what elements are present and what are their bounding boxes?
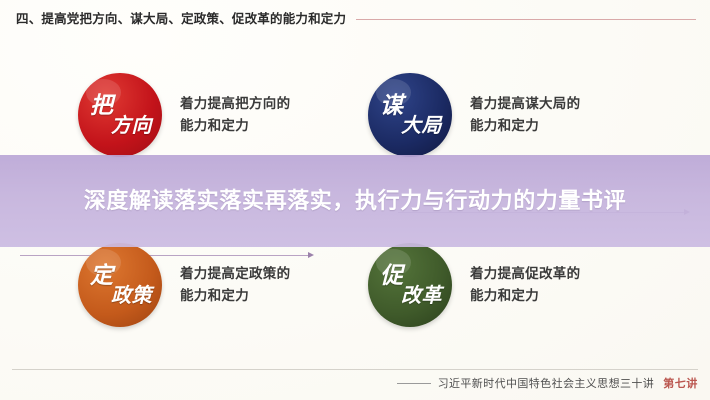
footer-separator-line xyxy=(12,369,698,370)
badge-char-secondary: 大局 xyxy=(377,116,443,136)
desc-line-2: 能力和定力 xyxy=(470,115,580,137)
badge-char-secondary: 政策 xyxy=(87,286,153,306)
desc-line-1: 着力提高谋大局的 xyxy=(470,93,580,115)
header-rule-divider xyxy=(356,19,696,20)
desc-line-2: 能力和定力 xyxy=(180,285,290,307)
badge-char-secondary: 改革 xyxy=(377,286,443,306)
diagram-item-description: 着力提高定政策的 能力和定力 xyxy=(180,263,290,308)
overlay-title-band: 深度解读落实落实再落实，执行力与行动力的力量书评 xyxy=(0,155,710,247)
diagram-item-description: 着力提高谋大局的 能力和定力 xyxy=(470,93,580,138)
badge-circle-ding-zhengce: 定 政策 xyxy=(78,243,162,327)
diagram-item-description: 着力提高促改革的 能力和定力 xyxy=(470,263,580,308)
slide-canvas: 四、提高党把方向、谋大局、定政策、促改革的能力和定力 把 方向 着力提高把方向的… xyxy=(0,0,710,400)
slide-footer: 习近平新时代中国特色社会主义思想三十讲 第七讲 xyxy=(397,374,698,392)
badge-char-primary: 把 xyxy=(87,94,153,117)
badge-label: 把 方向 xyxy=(87,94,153,136)
desc-line-2: 能力和定力 xyxy=(470,285,580,307)
badge-char-secondary: 方向 xyxy=(87,116,153,136)
badge-label: 定 政策 xyxy=(87,264,153,306)
badge-char-primary: 定 xyxy=(87,264,153,287)
desc-line-1: 着力提高把方向的 xyxy=(180,93,290,115)
diagram-item-description: 着力提高把方向的 能力和定力 xyxy=(180,93,290,138)
diagram-item-mou-daju: 谋 大局 着力提高谋大局的 能力和定力 xyxy=(368,60,668,170)
footer-rule-divider xyxy=(397,383,431,384)
footer-source-text: 习近平新时代中国特色社会主义思想三十讲 xyxy=(438,375,655,391)
page-title: 四、提高党把方向、谋大局、定政策、促改革的能力和定力 xyxy=(16,13,346,26)
badge-char-primary: 促 xyxy=(377,264,443,287)
desc-line-1: 着力提高定政策的 xyxy=(180,263,290,285)
badge-circle-ba-fangxiang: 把 方向 xyxy=(78,73,162,157)
diagram-item-ba-fangxiang: 把 方向 着力提高把方向的 能力和定力 xyxy=(78,60,378,170)
desc-line-2: 能力和定力 xyxy=(180,115,290,137)
footer-seal-stamp: 第七讲 xyxy=(663,375,698,391)
badge-label: 促 改革 xyxy=(377,264,443,306)
badge-label: 谋 大局 xyxy=(377,94,443,136)
desc-line-1: 着力提高促改革的 xyxy=(470,263,580,285)
slide-header: 四、提高党把方向、谋大局、定政策、促改革的能力和定力 xyxy=(16,8,696,30)
overlay-headline: 深度解读落实落实再落实，执行力与行动力的力量书评 xyxy=(84,186,626,216)
badge-char-primary: 谋 xyxy=(377,94,443,117)
badge-circle-mou-daju: 谋 大局 xyxy=(368,73,452,157)
badge-circle-cu-gaige: 促 改革 xyxy=(368,243,452,327)
